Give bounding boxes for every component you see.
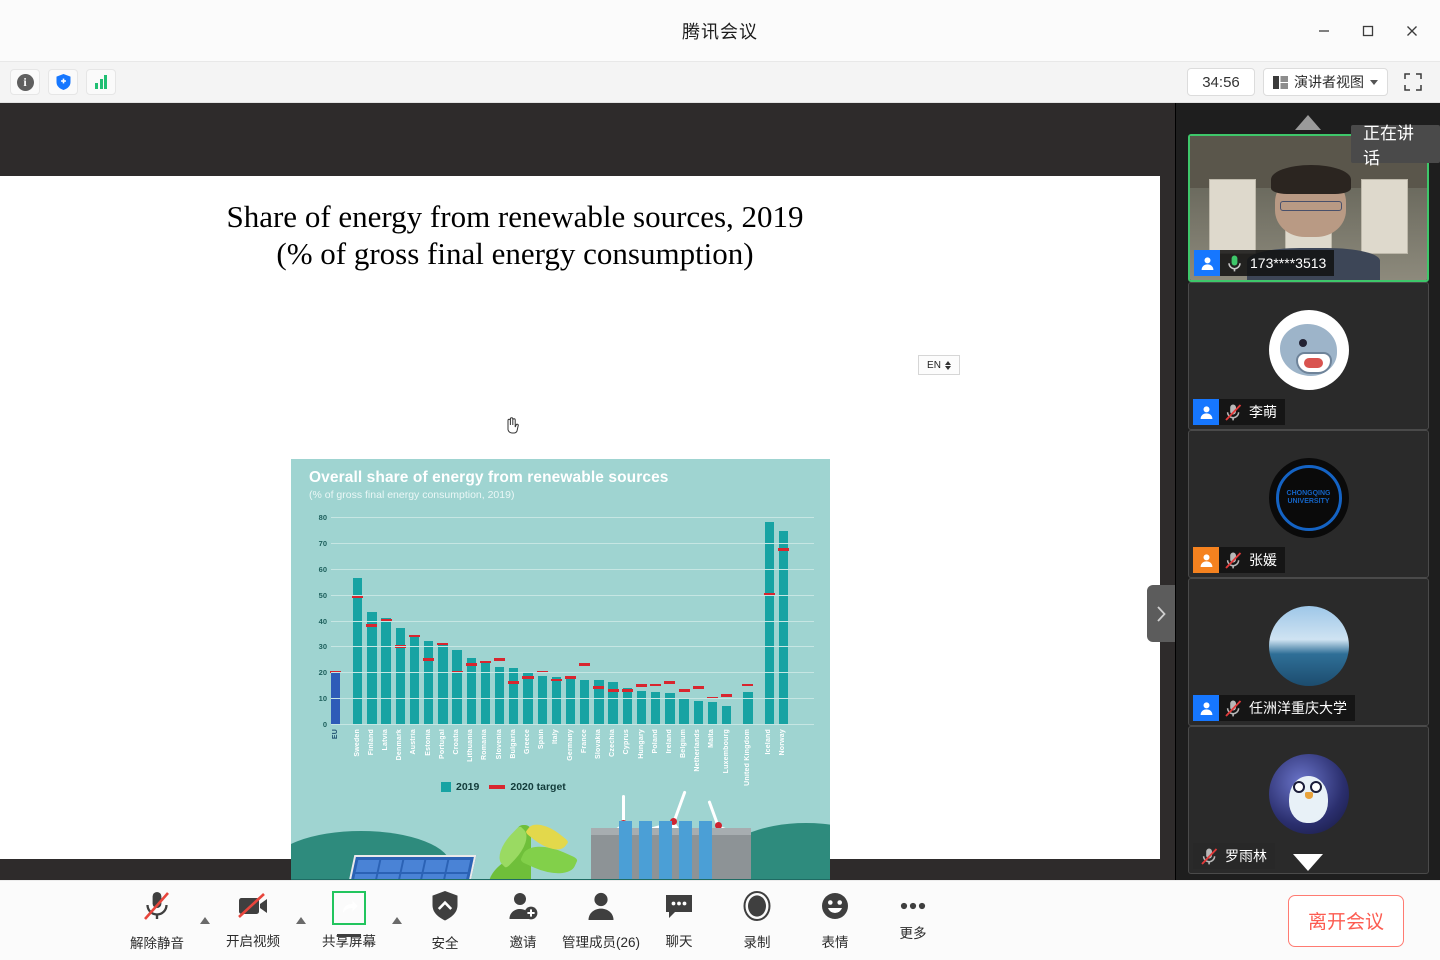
hand-cursor-icon — [504, 416, 520, 439]
bottom-bar-label: 解除静音 — [130, 932, 184, 952]
chart-y-tick: 70 — [309, 539, 327, 548]
bottom-bar-dropdown-arrow[interactable] — [196, 886, 214, 956]
chart-bar — [552, 677, 561, 724]
chart-bar-fill — [779, 531, 788, 724]
chevron-down-icon — [1370, 80, 1378, 85]
person-icon — [1200, 256, 1215, 271]
bottom-bar-dropdown-arrow[interactable] — [388, 886, 406, 956]
chart-gridline — [331, 672, 814, 673]
maximize-icon — [1361, 24, 1375, 38]
chart-bar-fill — [353, 578, 362, 724]
chart-bar — [481, 661, 490, 724]
chart-target-marker — [622, 689, 633, 692]
chart-bar — [694, 701, 703, 724]
chevron-down-icon — [1293, 854, 1323, 871]
caret-up-icon — [200, 917, 210, 924]
chart-bar-fill — [566, 679, 575, 724]
more-icon — [898, 899, 928, 917]
participant-mic-status — [1219, 695, 1247, 721]
chart-category-label: Finland — [368, 729, 375, 755]
bottom-bar-label: 聊天 — [666, 930, 693, 950]
chart-target-marker — [423, 658, 434, 661]
spinner-arrows-icon — [945, 361, 951, 370]
close-button[interactable] — [1390, 11, 1434, 51]
chart-bar-fill — [637, 691, 646, 724]
biomass-plant-icon — [487, 821, 592, 880]
meeting-bottom-bar: 解除静音开启视频共享屏幕安全邀请管理成员(26)聊天录制表情更多 离开会议 — [0, 880, 1440, 960]
chart-category-label: Cyprus — [623, 729, 630, 754]
chart-bar-fill — [381, 618, 390, 724]
users-icon — [586, 891, 616, 926]
chart-y-tick: 30 — [309, 642, 327, 651]
title-bar: 腾讯会议 — [0, 0, 1440, 62]
toolbar-right-group: 34:56 演讲者视图 — [1187, 68, 1430, 96]
chart-bar — [438, 645, 447, 724]
participant-badge-icon — [1193, 547, 1219, 573]
chart-y-tick: 60 — [309, 565, 327, 574]
cooling-stack — [619, 821, 632, 880]
bottom-bar-button-5[interactable]: 邀请 — [484, 886, 562, 956]
chart-target-marker — [693, 686, 704, 689]
participant-rail: 173****3513李萌CHONGQINGUNIVERSITY张媛任洲洋重庆大… — [1175, 103, 1440, 880]
participant-nameplate: 张媛 — [1193, 547, 1285, 573]
meeting-info-button[interactable]: i — [10, 69, 40, 95]
participant-nameplate: 任洲洋重庆大学 — [1193, 695, 1355, 721]
participant-avatar — [1269, 754, 1349, 834]
chart-target-marker — [636, 684, 647, 687]
participant-name: 张媛 — [1247, 550, 1285, 570]
chart-target-marker — [593, 686, 604, 689]
chart-category-label: Latvia — [382, 729, 389, 750]
close-icon — [1405, 24, 1419, 38]
participant-tile[interactable]: 任洲洋重庆大学 — [1188, 578, 1429, 726]
slide-title-line1: Share of energy from renewable sources, … — [0, 198, 1030, 235]
share-screen-icon — [332, 891, 366, 925]
chart-bar — [410, 637, 419, 724]
chart-y-tick: 10 — [309, 694, 327, 703]
chart-category-label: Italy — [552, 729, 559, 744]
participant-mic-status — [1219, 399, 1247, 425]
bottom-bar-button-9[interactable]: 表情 — [796, 886, 874, 956]
security-shield-button[interactable] — [48, 69, 78, 95]
share-underline — [337, 934, 361, 937]
mic-muted-icon — [1224, 551, 1243, 570]
chart-bar-fill — [623, 688, 632, 724]
chart-gridline — [331, 698, 814, 699]
app-title: 腾讯会议 — [682, 18, 758, 44]
chart-target-marker — [409, 635, 420, 638]
legend-item-target: 2020 target — [489, 781, 565, 793]
chart-title: Overall share of energy from renewable s… — [309, 469, 669, 487]
participant-name: 李萌 — [1247, 402, 1285, 422]
presentation-slide: Share of energy from renewable sources, … — [0, 176, 1160, 859]
chart-target-marker — [721, 694, 732, 697]
chart-category-labels: EUSwedenFinlandLatviaDenmarkAustriaEston… — [331, 727, 830, 787]
participant-mic-status — [1220, 250, 1248, 276]
speaker-view-icon — [1273, 76, 1288, 89]
bottom-bar-button-1[interactable]: 解除静音 — [118, 886, 196, 956]
speaking-tooltip: 正在讲话 — [1351, 125, 1440, 163]
chart-target-marker — [742, 684, 753, 687]
chart-category-label: EU — [332, 729, 339, 739]
chart-target-marker — [650, 684, 661, 687]
eurostat-figure: Overall share of energy from renewable s… — [291, 459, 830, 880]
minimize-icon — [1317, 24, 1331, 38]
tencent-meeting-window: 腾讯会议 i 34:56 — [0, 0, 1440, 960]
chart-category-label: Luxembourg — [723, 729, 730, 773]
chart-bar — [779, 531, 788, 724]
participant-badge-icon — [1193, 695, 1219, 721]
chart-y-tick: 20 — [309, 668, 327, 677]
bottom-bar-dropdown-arrow[interactable] — [292, 886, 310, 956]
chart-bar-fill — [410, 637, 419, 724]
chart-category-label: Norway — [779, 729, 786, 756]
chart-y-tick: 80 — [309, 513, 327, 522]
chart-bar-fill — [367, 612, 376, 724]
chart-bar — [452, 650, 461, 724]
bottom-bar-label: 邀请 — [510, 931, 537, 951]
participant-list: 173****3513李萌CHONGQINGUNIVERSITY张媛任洲洋重庆大… — [1176, 134, 1440, 880]
chart-bar-fill — [552, 677, 561, 724]
chart-gridline — [331, 569, 814, 570]
chart-bar — [495, 667, 504, 724]
chart-bar-fill — [438, 645, 447, 724]
legend-label-2019: 2019 — [456, 781, 479, 793]
chart-y-tick: 40 — [309, 617, 327, 626]
chart-gridline — [331, 543, 814, 544]
chart-subtitle: (% of gross final energy consumption, 20… — [309, 489, 669, 501]
chart-category-label: Iceland — [765, 729, 772, 755]
chart-bar — [467, 658, 476, 724]
chart-y-tick: 50 — [309, 591, 327, 600]
chart-target-marker — [551, 679, 562, 682]
participant-mic-status — [1195, 843, 1223, 869]
minimize-button[interactable] — [1302, 11, 1346, 51]
meeting-timer: 34:56 — [1187, 68, 1255, 96]
chart-bar — [396, 628, 405, 724]
chart-bar-fill — [396, 628, 405, 724]
figure-artwork — [291, 801, 830, 880]
camera-off-icon — [237, 892, 269, 925]
chart-legend: 2019 2020 target — [441, 781, 566, 793]
chart-y-tick: 0 — [309, 720, 327, 729]
bottom-bar-button-2[interactable]: 开启视频 — [214, 886, 292, 956]
chart-bar — [679, 698, 688, 724]
person-icon — [1199, 553, 1214, 568]
bottom-bar-label: 表情 — [822, 931, 849, 951]
person-icon — [1199, 405, 1214, 420]
participant-name: 任洲洋重庆大学 — [1247, 698, 1355, 718]
chart-bar — [538, 676, 547, 724]
mic-on-icon — [1226, 254, 1243, 273]
participant-nameplate: 罗雨林 — [1193, 843, 1275, 869]
chart-bar-fill — [679, 698, 688, 724]
figure-header: Overall share of energy from renewable s… — [309, 469, 669, 501]
window-controls — [1302, 0, 1434, 62]
chart-category-label: Romania — [481, 729, 488, 760]
chart-gridline — [331, 646, 814, 647]
chart-target-marker — [608, 689, 619, 692]
chart-bar — [623, 688, 632, 724]
bottom-bar-label: 录制 — [744, 931, 771, 951]
info-icon: i — [17, 74, 34, 91]
participant-mic-status — [1219, 547, 1247, 573]
chart-bar — [353, 578, 362, 724]
chart-bar-fill — [509, 668, 518, 724]
bottom-bar-label: 更多 — [900, 922, 927, 942]
legend-label-target: 2020 target — [510, 781, 565, 793]
chart-target-marker — [352, 596, 363, 599]
participant-avatar: CHONGQINGUNIVERSITY — [1269, 458, 1349, 538]
chart-bar — [580, 680, 589, 725]
participant-name: 罗雨林 — [1223, 846, 1275, 866]
bottom-bar-button-4[interactable]: 安全 — [406, 886, 484, 956]
user-add-icon — [508, 891, 538, 926]
chart-bar-fill — [481, 661, 490, 724]
chart-category-label: Slovenia — [496, 729, 503, 759]
participant-nameplate: 173****3513 — [1194, 250, 1334, 276]
participant-avatar — [1269, 606, 1349, 686]
person-icon — [1199, 701, 1214, 716]
cooling-stack — [659, 821, 672, 880]
chart-category-label: Hungary — [638, 729, 645, 759]
chart-bar — [367, 612, 376, 724]
bottom-bar-button-10[interactable]: 更多 — [874, 886, 952, 956]
chart-target-marker — [579, 663, 590, 666]
chart-gridline — [331, 595, 814, 596]
collapse-panel-button[interactable] — [1147, 585, 1175, 642]
language-selector-label: EN — [927, 360, 941, 371]
chart-bar — [722, 706, 731, 724]
chart-target-marker — [778, 548, 789, 551]
chart-bar — [608, 682, 617, 724]
chart-target-marker — [480, 661, 491, 664]
shared-screen-stage: Share of energy from renewable sources, … — [0, 103, 1175, 880]
caret-up-icon — [392, 917, 402, 924]
chart-category-label: Portugal — [439, 729, 446, 759]
mic-muted-icon — [1200, 847, 1219, 866]
chart-bar-fill — [743, 692, 752, 724]
chevron-up-icon — [1295, 115, 1321, 130]
fullscreen-icon — [1404, 73, 1422, 91]
chart-category-label: Malta — [708, 729, 715, 748]
caret-up-icon — [296, 917, 306, 924]
record-icon — [742, 891, 772, 926]
chart-target-marker — [679, 689, 690, 692]
chart-category-label: Poland — [652, 729, 659, 754]
chart-category-label: Lithuania — [467, 729, 474, 762]
chart-bar — [509, 668, 518, 724]
chart-bar — [765, 522, 774, 724]
participant-name: 173****3513 — [1248, 255, 1334, 271]
participant-tile[interactable]: 李萌 — [1188, 282, 1429, 430]
bottom-bar-button-8[interactable]: 录制 — [718, 886, 796, 956]
chart-bar-fill — [538, 676, 547, 724]
shield-plus-icon — [55, 73, 72, 91]
chart-bar-fill — [722, 706, 731, 724]
chart-bar-fill — [708, 702, 717, 724]
participant-nameplate: 李萌 — [1193, 399, 1285, 425]
chart-category-label: Estonia — [425, 729, 432, 756]
chart-gridline — [331, 517, 814, 518]
chart-target-marker — [494, 658, 505, 661]
chevron-right-icon — [1155, 604, 1168, 624]
chart-bar — [424, 641, 433, 724]
view-mode-selector[interactable]: 演讲者视图 — [1263, 68, 1388, 96]
chart-category-label: Denmark — [396, 729, 403, 760]
bottom-bar-button-6[interactable]: 管理成员(26) — [562, 886, 640, 956]
chart-bar — [637, 691, 646, 724]
chat-icon — [664, 892, 694, 925]
chart-target-marker — [437, 643, 448, 646]
chart-category-label: Bulgaria — [510, 729, 517, 759]
chart-target-marker — [466, 663, 477, 666]
participant-avatar — [1269, 310, 1349, 390]
fullscreen-button[interactable] — [1396, 68, 1430, 96]
bottom-bar-label: 开启视频 — [226, 930, 280, 950]
chart-target-marker — [366, 624, 377, 627]
bottom-bar-items: 解除静音开启视频共享屏幕安全邀请管理成员(26)聊天录制表情更多 — [118, 886, 952, 956]
mic-muted-icon — [1224, 699, 1243, 718]
chart-category-label: Greece — [524, 729, 531, 754]
leave-meeting-button[interactable]: 离开会议 — [1288, 895, 1404, 947]
view-mode-label: 演讲者视图 — [1294, 72, 1364, 92]
chart-bar-fill — [467, 658, 476, 724]
chart-category-label: Ireland — [666, 729, 673, 753]
chart-plot-area: 80706050403020100 — [309, 517, 814, 725]
chart-target-marker — [565, 676, 576, 679]
legend-line-icon — [489, 785, 505, 789]
chart-bar — [743, 692, 752, 724]
network-signal-icon — [95, 75, 107, 89]
emoji-icon — [820, 891, 850, 926]
chart-bar-fill — [424, 641, 433, 724]
chart-bar — [708, 702, 717, 724]
chart-category-label: Slovakia — [595, 729, 602, 759]
participant-badge-icon — [1193, 399, 1219, 425]
mic-muted-icon — [142, 890, 172, 927]
language-selector[interactable]: EN — [918, 355, 960, 375]
chart-bar-fill — [495, 667, 504, 724]
chart-category-label: Sweden — [354, 729, 361, 757]
participant-badge-icon — [1194, 250, 1220, 276]
cooling-stack — [679, 821, 692, 880]
slide-title: Share of energy from renewable sources, … — [0, 198, 1030, 272]
slide-title-line2: (% of gross final energy consumption) — [0, 235, 1030, 272]
bottom-bar-button-7[interactable]: 聊天 — [640, 886, 718, 956]
chart-bar — [566, 679, 575, 724]
chart-category-label: Croatia — [453, 729, 460, 755]
chart-target-marker — [522, 676, 533, 679]
maximize-button[interactable] — [1346, 11, 1390, 51]
chart-category-label: Spain — [538, 729, 545, 749]
bottom-bar-label: 安全 — [432, 932, 459, 952]
chart-category-label: Germany — [567, 729, 574, 761]
chart-target-marker — [664, 681, 675, 684]
chart-target-marker — [508, 681, 519, 684]
chart-category-label: France — [581, 729, 588, 753]
chart-bar — [594, 680, 603, 724]
legend-swatch-icon — [441, 782, 451, 792]
mic-muted-icon — [1224, 403, 1243, 422]
chart-category-label: Austria — [410, 729, 417, 755]
legend-item-2019: 2019 — [441, 781, 479, 793]
participant-tile[interactable]: CHONGQINGUNIVERSITY张媛 — [1188, 430, 1429, 578]
chart-bar-fill — [452, 650, 461, 724]
chart-bar — [381, 618, 390, 724]
chart-gridline — [331, 724, 814, 725]
chart-bar-fill — [765, 522, 774, 724]
rail-scroll-up-button[interactable] — [1295, 112, 1321, 132]
solar-panel-icon — [344, 855, 477, 880]
network-status-button[interactable] — [86, 69, 116, 95]
bottom-bar-button-3[interactable]: 共享屏幕 — [310, 886, 388, 956]
rail-scroll-down-button[interactable] — [1295, 852, 1321, 872]
meeting-toolbar: i 34:56 演讲者视图 — [0, 62, 1440, 103]
bottom-bar-label: 管理成员(26) — [562, 931, 640, 951]
chart-category-label: United Kingdom — [744, 729, 751, 786]
shield-icon — [431, 890, 459, 927]
chart-bar-fill — [580, 680, 589, 725]
chart-gridline — [331, 621, 814, 622]
chart-category-label: Netherlands — [694, 729, 701, 772]
chart-category-label: Belgium — [680, 729, 687, 758]
chart-category-label: Czechia — [609, 729, 616, 757]
cooling-stack — [639, 821, 652, 880]
cooling-stack — [699, 821, 712, 880]
chart-bar-fill — [694, 701, 703, 724]
